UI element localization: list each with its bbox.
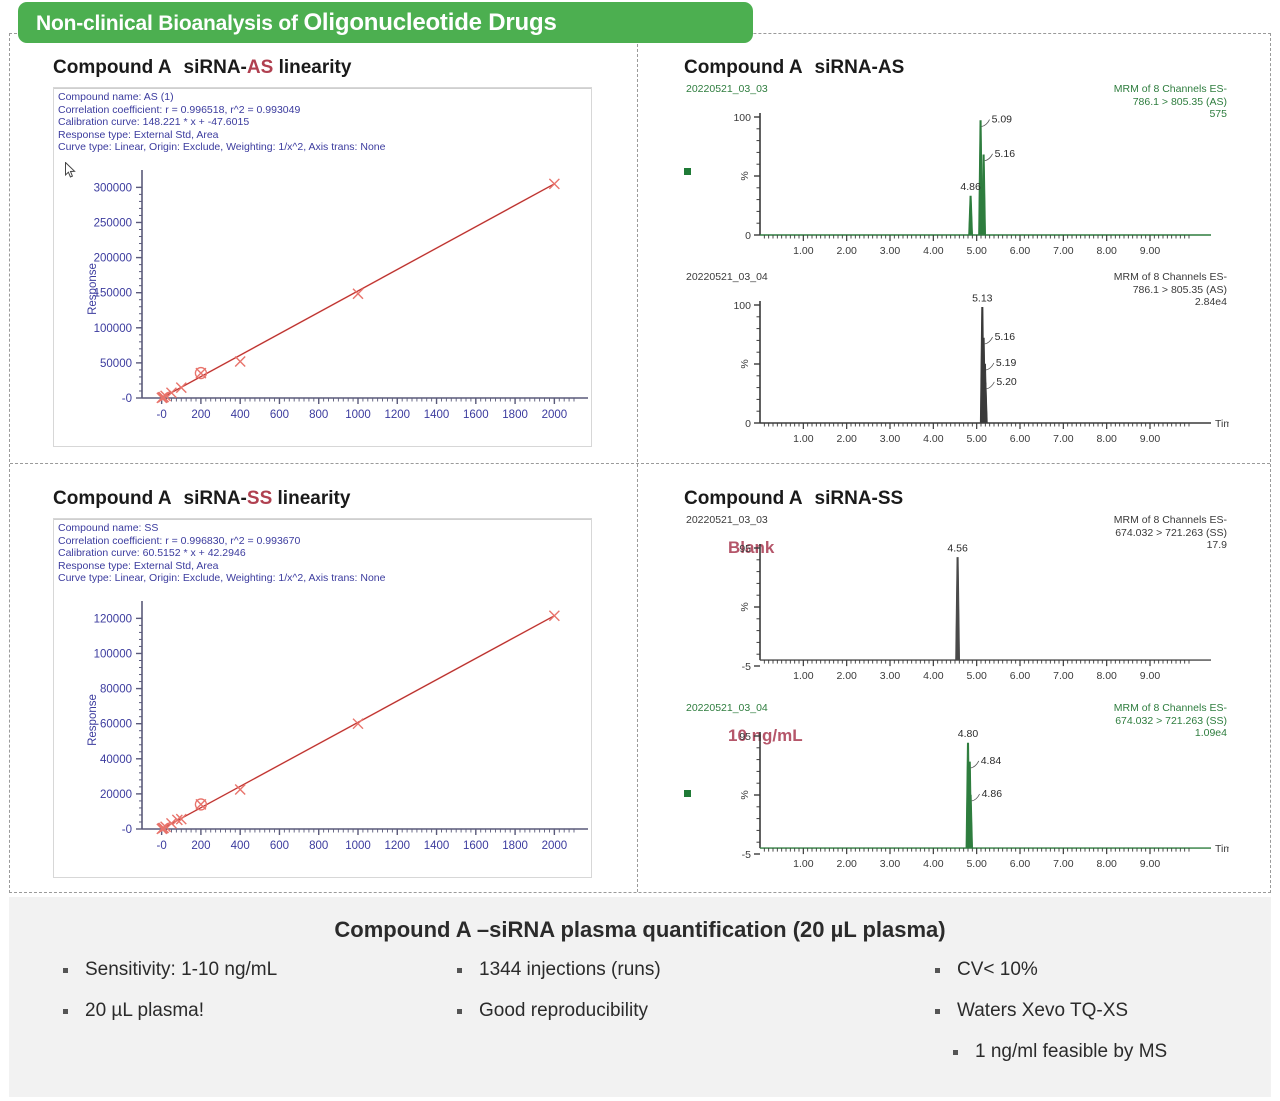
svg-text:60000: 60000: [100, 719, 132, 731]
svg-text:600: 600: [270, 409, 289, 421]
sample-name: 20220521_03_03: [686, 83, 768, 95]
svg-text:800: 800: [309, 840, 328, 852]
svg-text:20000: 20000: [100, 789, 132, 801]
channel-line: MRM of 8 Channels ES-: [1114, 83, 1227, 96]
svg-text:-5: -5: [742, 661, 751, 673]
summary-title: Compound A –siRNA plasma quantification …: [9, 917, 1271, 943]
svg-text:5.00: 5.00: [966, 245, 987, 257]
svg-text:2.00: 2.00: [836, 670, 857, 682]
svg-text:800: 800: [309, 409, 328, 421]
linearity-report-as: Compound name: AS (1) Correlation coeffi…: [53, 87, 592, 447]
summary-columns: Sensitivity: 1-10 ng/mL 20 µL plasma! 13…: [9, 959, 1271, 1082]
title-strand: AS: [247, 57, 273, 78]
svg-text:4.00: 4.00: [923, 858, 944, 870]
sample-name: 20220521_03_04: [686, 271, 768, 283]
svg-text:5.16: 5.16: [995, 331, 1016, 343]
svg-text:5.00: 5.00: [966, 433, 987, 445]
svg-text:5.13: 5.13: [972, 292, 993, 304]
summary-bullet: 1 ng/ml feasible by MS: [927, 1041, 1269, 1063]
svg-text:2.00: 2.00: [836, 858, 857, 870]
svg-text:8.00: 8.00: [1096, 245, 1117, 257]
svg-text:5.20: 5.20: [996, 376, 1017, 388]
svg-text:Time: Time: [1215, 843, 1229, 855]
channel-line: MRM of 8 Channels ES-: [1114, 702, 1227, 715]
svg-text:100: 100: [733, 112, 751, 124]
svg-text:-5: -5: [742, 849, 751, 861]
svg-text:-0: -0: [122, 393, 132, 405]
title-suffix: linearity: [272, 488, 350, 509]
svg-text:1800: 1800: [502, 840, 528, 852]
svg-text:4.86: 4.86: [982, 788, 1003, 800]
svg-text:-0: -0: [122, 824, 132, 836]
title-sirna: siRNA-: [184, 57, 247, 78]
svg-text:Response: Response: [87, 263, 99, 315]
linearity-report-ss: Compound name: SS Correlation coefficien…: [53, 518, 592, 878]
panel-title-ss-chrom: Compound AsiRNA-SS: [684, 488, 903, 510]
svg-text:6.00: 6.00: [1010, 858, 1031, 870]
chromatogram-ss-blank: 20220521_03_03 MRM of 8 Channels ES- 674…: [684, 514, 1229, 697]
chromatogram-chart-as-1: 100%01.002.003.004.005.006.007.008.009.0…: [684, 95, 1229, 263]
svg-text:4.80: 4.80: [958, 728, 979, 740]
svg-text:Time: Time: [1215, 418, 1229, 430]
svg-text:1400: 1400: [424, 840, 450, 852]
svg-text:2.00: 2.00: [836, 433, 857, 445]
svg-text:100: 100: [733, 300, 751, 312]
svg-text:%: %: [739, 602, 751, 611]
title-compound: Compound A: [53, 57, 172, 78]
summary-column-2: 1344 injections (runs) Good reproducibil…: [429, 959, 909, 1082]
svg-text:200: 200: [191, 840, 210, 852]
svg-text:3.00: 3.00: [880, 858, 901, 870]
svg-text:4.00: 4.00: [923, 670, 944, 682]
svg-text:150000: 150000: [94, 288, 132, 300]
chromatogram-stack-as: 20220521_03_03 MRM of 8 Channels ES- 786…: [684, 83, 1229, 455]
svg-text:5.00: 5.00: [966, 670, 987, 682]
title-compound: Compound A: [684, 488, 803, 509]
svg-text:1600: 1600: [463, 840, 489, 852]
summary-bullet: Waters Xevo TQ-XS: [927, 1000, 1269, 1022]
sample-name: 20220521_03_03: [686, 514, 768, 526]
summary-bullet: CV< 10%: [927, 959, 1269, 981]
svg-text:80000: 80000: [100, 684, 132, 696]
svg-text:1.00: 1.00: [793, 245, 814, 257]
panel-sirna-as-linearity: Compound AsiRNA-AS linearity Compound na…: [9, 33, 637, 463]
chromatogram-chart-ss-2: 95%-51.002.003.004.005.006.007.008.009.0…: [684, 714, 1229, 882]
svg-text:1400: 1400: [424, 409, 450, 421]
svg-text:6.00: 6.00: [1010, 670, 1031, 682]
channel-line: MRM of 8 Channels ES-: [1114, 514, 1227, 527]
header-title-part1: Non-clinical Bioanalysis of: [36, 12, 303, 35]
summary-section: Compound A –siRNA plasma quantification …: [9, 897, 1271, 1097]
svg-text:4.56: 4.56: [947, 542, 968, 554]
svg-text:95: 95: [739, 731, 751, 743]
title-strand: siRNA-AS: [815, 57, 905, 78]
header-title-part2: Oligonucleotide Drugs: [303, 9, 556, 36]
svg-text:400: 400: [231, 840, 250, 852]
svg-text:1.00: 1.00: [793, 433, 814, 445]
svg-text:300000: 300000: [94, 182, 132, 194]
svg-text:4.00: 4.00: [923, 245, 944, 257]
summary-bullet: Sensitivity: 1-10 ng/mL: [55, 959, 429, 981]
svg-text:%: %: [739, 790, 751, 799]
panel-sirna-ss-chromatogram: Compound AsiRNA-SS 20220521_03_03 MRM of…: [638, 464, 1271, 893]
svg-text:600: 600: [270, 840, 289, 852]
svg-text:200000: 200000: [94, 253, 132, 265]
chromatogram-ss-10ngml: 20220521_03_04 MRM of 8 Channels ES- 674…: [684, 702, 1229, 885]
svg-text:4.00: 4.00: [923, 433, 944, 445]
svg-text:-0: -0: [157, 409, 167, 421]
svg-text:2.00: 2.00: [836, 245, 857, 257]
svg-text:7.00: 7.00: [1053, 670, 1074, 682]
title-strand: siRNA-SS: [815, 488, 904, 509]
svg-text:4.84: 4.84: [981, 755, 1002, 767]
svg-text:1200: 1200: [384, 409, 410, 421]
svg-text:2000: 2000: [542, 409, 568, 421]
svg-text:5.16: 5.16: [995, 148, 1016, 160]
svg-text:1200: 1200: [384, 840, 410, 852]
horizontal-divider: [10, 463, 1270, 464]
svg-text:6.00: 6.00: [1010, 245, 1031, 257]
svg-text:8.00: 8.00: [1096, 433, 1117, 445]
chromatogram-stack-ss: 20220521_03_03 MRM of 8 Channels ES- 674…: [684, 514, 1229, 886]
title-compound: Compound A: [684, 57, 803, 78]
chromatogram-as-03-04: 20220521_03_04 MRM of 8 Channels ES- 786…: [684, 271, 1229, 454]
summary-column-1: Sensitivity: 1-10 ng/mL 20 µL plasma!: [9, 959, 429, 1082]
svg-text:5.09: 5.09: [992, 114, 1013, 126]
svg-text:%: %: [739, 359, 751, 368]
channel-line: MRM of 8 Channels ES-: [1114, 271, 1227, 284]
svg-text:3.00: 3.00: [880, 245, 901, 257]
svg-text:1.00: 1.00: [793, 670, 814, 682]
linearity-chart-ss: -020000400006000080000100000120000-02004…: [54, 519, 593, 879]
summary-column-3: CV< 10% Waters Xevo TQ-XS 1 ng/ml feasib…: [909, 959, 1269, 1082]
svg-text:1000: 1000: [345, 840, 371, 852]
header-banner: Non-clinical Bioanalysis of Oligonucleot…: [18, 2, 753, 43]
summary-bullet: 20 µL plasma!: [55, 1000, 429, 1022]
svg-text:400: 400: [231, 409, 250, 421]
svg-text:95: 95: [739, 543, 751, 555]
title-suffix: linearity: [273, 57, 351, 78]
mouse-pointer-icon: [65, 162, 76, 179]
svg-text:100000: 100000: [94, 323, 132, 335]
svg-text:9.00: 9.00: [1140, 670, 1161, 682]
title-sirna: siRNA-: [184, 488, 247, 509]
chromatogram-chart-as-2: 100%01.002.003.004.005.006.007.008.009.0…: [684, 283, 1229, 451]
svg-text:9.00: 9.00: [1140, 245, 1161, 257]
panel-sirna-as-chromatogram: Compound AsiRNA-AS 20220521_03_03 MRM of…: [638, 33, 1271, 463]
svg-text:1.00: 1.00: [793, 858, 814, 870]
svg-text:7.00: 7.00: [1053, 433, 1074, 445]
svg-text:1600: 1600: [463, 409, 489, 421]
svg-text:7.00: 7.00: [1053, 245, 1074, 257]
svg-text:6.00: 6.00: [1010, 433, 1031, 445]
svg-text:9.00: 9.00: [1140, 433, 1161, 445]
svg-text:-0: -0: [157, 840, 167, 852]
svg-text:40000: 40000: [100, 754, 132, 766]
svg-text:8.00: 8.00: [1096, 670, 1117, 682]
svg-text:Response: Response: [87, 694, 99, 746]
svg-text:5.00: 5.00: [966, 858, 987, 870]
panel-sirna-ss-linearity: Compound AsiRNA-SS linearity Compound na…: [9, 464, 637, 893]
chromatogram-chart-ss-1: 95%-51.002.003.004.005.006.007.008.009.0…: [684, 526, 1229, 694]
sample-name: 20220521_03_04: [686, 702, 768, 714]
panel-title-as-chrom: Compound AsiRNA-AS: [684, 57, 904, 79]
svg-text:3.00: 3.00: [880, 670, 901, 682]
svg-text:9.00: 9.00: [1140, 858, 1161, 870]
svg-text:8.00: 8.00: [1096, 858, 1117, 870]
svg-text:5.19: 5.19: [996, 357, 1017, 369]
panel-title-as-linearity: Compound AsiRNA-AS linearity: [53, 57, 351, 79]
linearity-chart-as: -050000100000150000200000250000300000-02…: [54, 88, 593, 448]
svg-text:2000: 2000: [542, 840, 568, 852]
svg-text:7.00: 7.00: [1053, 858, 1074, 870]
header-title: Non-clinical Bioanalysis of Oligonucleot…: [36, 9, 557, 37]
title-compound: Compound A: [53, 488, 172, 509]
svg-text:4.86: 4.86: [960, 181, 981, 193]
svg-text:1800: 1800: [502, 409, 528, 421]
svg-text:0: 0: [745, 418, 751, 430]
summary-bullet: Good reproducibility: [449, 1000, 909, 1022]
chromatogram-as-03-03: 20220521_03_03 MRM of 8 Channels ES- 786…: [684, 83, 1229, 266]
svg-text:%: %: [739, 171, 751, 180]
svg-text:50000: 50000: [100, 358, 132, 370]
title-strand: SS: [247, 488, 272, 509]
svg-text:120000: 120000: [94, 613, 132, 625]
svg-text:100000: 100000: [94, 648, 132, 660]
svg-text:3.00: 3.00: [880, 433, 901, 445]
svg-text:0: 0: [745, 230, 751, 242]
summary-bullet: 1344 injections (runs): [449, 959, 909, 981]
svg-text:250000: 250000: [94, 217, 132, 229]
svg-text:1000: 1000: [345, 409, 371, 421]
panel-title-ss-linearity: Compound AsiRNA-SS linearity: [53, 488, 350, 510]
svg-text:200: 200: [191, 409, 210, 421]
